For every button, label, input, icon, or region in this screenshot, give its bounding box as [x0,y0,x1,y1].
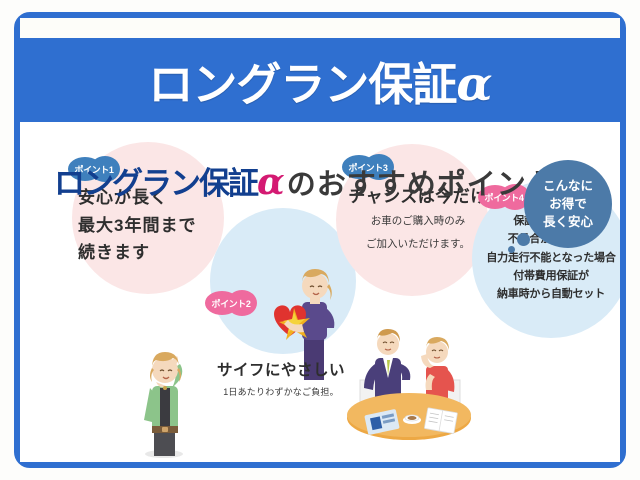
point-4-line-5: 納車時から自動セット [472,285,620,303]
content-area: ロングラン保証αのおすすめポイント こんなに お得で 長く安心 ポイント1 安心… [20,122,620,462]
speech-bubble: こんなに お得で 長く安心 [524,160,612,248]
illustration-woman-green [130,344,202,462]
subtitle-heading: ロングラン保証αのおすすめポイント [54,158,557,203]
speech-bubble-tail-small [508,246,515,253]
point-4-line-4: 付帯費用保証が [472,267,620,285]
banner-title: ロングラン保証α [148,48,491,113]
speech-bubble-tail-large [517,233,530,246]
point-2-note: 1日あたりわずかなご負担。 [206,385,356,398]
point-2-title: サイフにやさしい [206,358,356,380]
speech-bubble-line-2: お得で [549,195,587,213]
point-1-title-line-2: 最大3年間まで [78,212,196,240]
title-banner: ロングラン保証α [20,38,620,122]
point-2-text: サイフにやさしい 1日あたりわずかなご負担。 [206,358,356,398]
banner-title-text: ロングラン保証 [148,59,456,110]
illustration-couple-table [342,322,476,446]
point-1-title-line-3: 続きます [78,239,196,267]
blue-rounded-frame: ロングラン保証α ロングラン保証αのおすすめポイント こんなに お得で 長く安心 [14,12,626,468]
point-2-badge-label: ポイント2 [205,290,257,316]
point-2-badge: ポイント2 [205,290,257,316]
subtitle-brand: ロングラン保証 [54,166,257,202]
subtitle-alpha: α [257,161,285,203]
point-4-line-3: 自力走行不能となった場合 [472,249,620,267]
advertisement-banner: ロングラン保証α ロングラン保証αのおすすめポイント こんなに お得で 長く安心 [0,0,640,480]
top-white-strip [20,18,620,38]
banner-title-alpha: α [456,57,491,112]
speech-bubble-line-3: 長く安心 [543,213,593,231]
subtitle-rest: のおすすめポイント [287,169,557,201]
speech-bubble-line-1: こんなに [543,177,593,195]
